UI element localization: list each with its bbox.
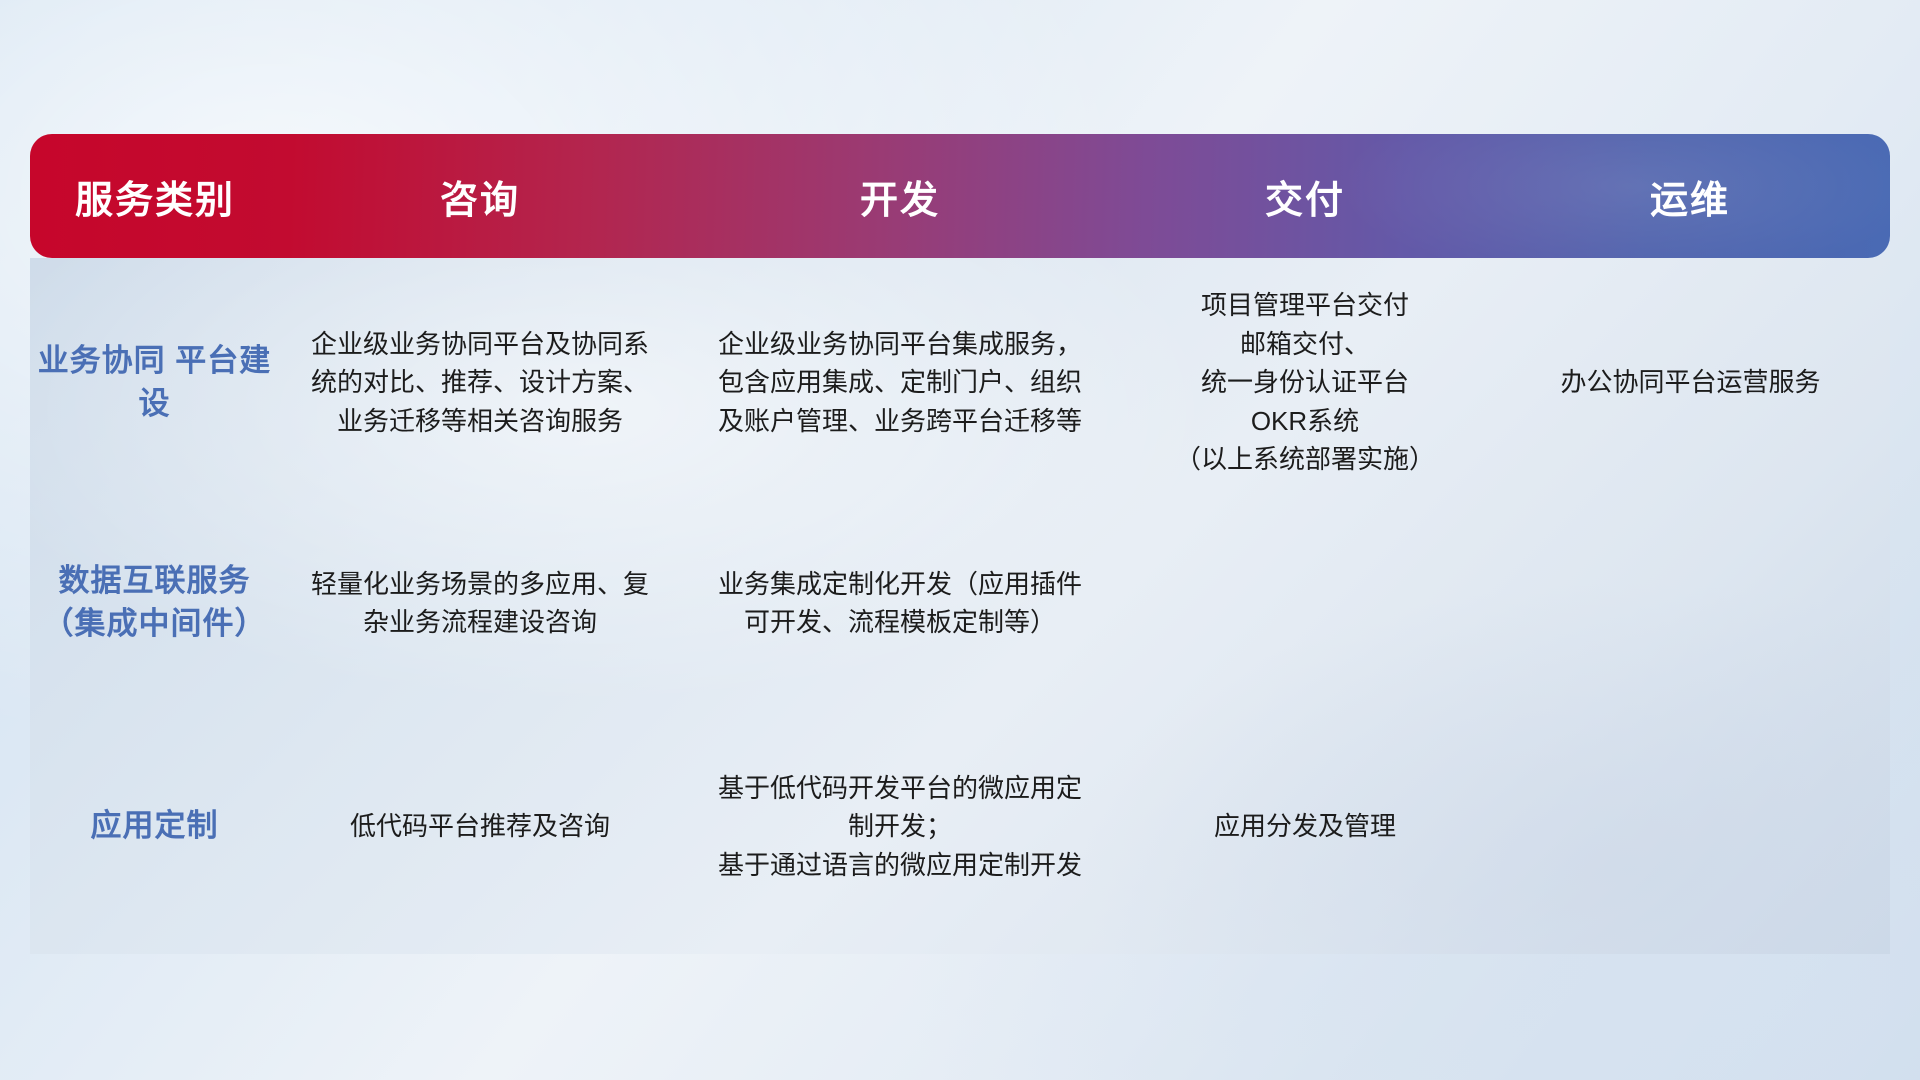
page-canvas: 服务类别 咨询 开发 交付 运维 业务协同 平台建设 企业级业务协同平台及协同系… xyxy=(0,0,1920,1080)
table-body: 业务协同 平台建设 企业级业务协同平台及协同系 统的对比、推荐、设计方案、 业务… xyxy=(30,258,1890,954)
table-header: 服务类别 咨询 开发 交付 运维 xyxy=(30,134,1890,258)
column-header-development[interactable]: 开发 xyxy=(680,134,1120,258)
service-matrix-table: 服务类别 咨询 开发 交付 运维 业务协同 平台建设 企业级业务协同平台及协同系… xyxy=(30,134,1890,954)
cell-row3-development: 基于低代码开发平台的微应用定 制开发； 基于通过语言的微应用定制开发 xyxy=(680,698,1120,954)
row-label-business-collaboration: 业务协同 平台建设 xyxy=(30,258,280,508)
row-label-app-customization: 应用定制 xyxy=(30,698,280,954)
cell-row3-delivery: 应用分发及管理 xyxy=(1120,698,1490,954)
row-label-data-integration: 数据互联服务 （集成中间件） xyxy=(30,508,280,698)
cell-row1-consulting: 企业级业务协同平台及协同系 统的对比、推荐、设计方案、 业务迁移等相关咨询服务 xyxy=(280,258,680,508)
cell-row1-delivery: 项目管理平台交付 邮箱交付、 统一身份认证平台 OKR系统 （以上系统部署实施） xyxy=(1120,258,1490,508)
column-header-operations[interactable]: 运维 xyxy=(1490,134,1890,258)
cell-row2-delivery xyxy=(1120,508,1490,698)
service-table: 服务类别 咨询 开发 交付 运维 业务协同 平台建设 企业级业务协同平台及协同系… xyxy=(30,134,1890,954)
column-header-consulting[interactable]: 咨询 xyxy=(280,134,680,258)
cell-row2-operations xyxy=(1490,508,1890,698)
column-header-delivery[interactable]: 交付 xyxy=(1120,134,1490,258)
table-row: 业务协同 平台建设 企业级业务协同平台及协同系 统的对比、推荐、设计方案、 业务… xyxy=(30,258,1890,508)
column-header-category[interactable]: 服务类别 xyxy=(30,134,280,258)
cell-row3-operations xyxy=(1490,698,1890,954)
cell-row3-consulting: 低代码平台推荐及咨询 xyxy=(280,698,680,954)
table-header-row: 服务类别 咨询 开发 交付 运维 xyxy=(30,134,1890,258)
cell-row1-operations: 办公协同平台运营服务 xyxy=(1490,258,1890,508)
table-row: 数据互联服务 （集成中间件） 轻量化业务场景的多应用、复 杂业务流程建设咨询 业… xyxy=(30,508,1890,698)
table-row: 应用定制 低代码平台推荐及咨询 基于低代码开发平台的微应用定 制开发； 基于通过… xyxy=(30,698,1890,954)
cell-row2-consulting: 轻量化业务场景的多应用、复 杂业务流程建设咨询 xyxy=(280,508,680,698)
cell-row1-development: 企业级业务协同平台集成服务， 包含应用集成、定制门户、组织 及账户管理、业务跨平… xyxy=(680,258,1120,508)
cell-row2-development: 业务集成定制化开发（应用插件 可开发、流程模板定制等） xyxy=(680,508,1120,698)
